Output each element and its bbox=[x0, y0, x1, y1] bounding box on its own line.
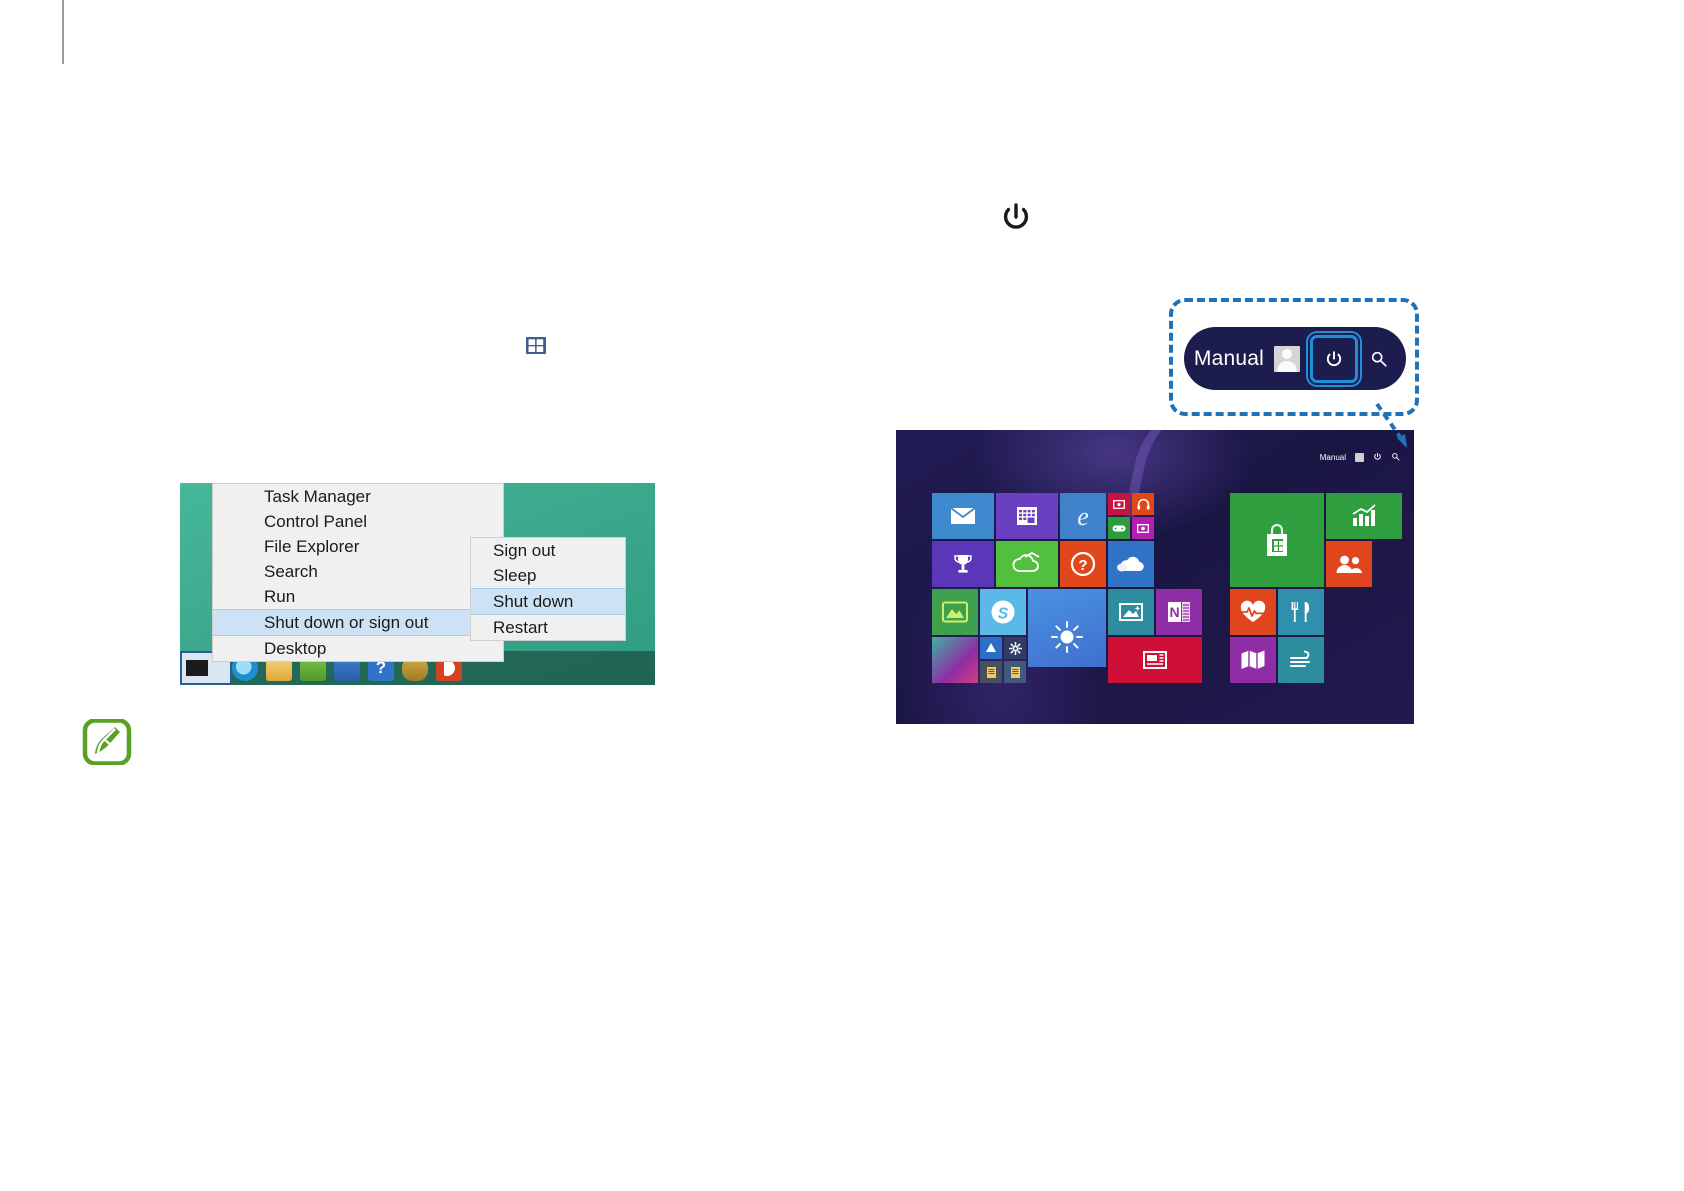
map-icon bbox=[1240, 649, 1266, 671]
people-icon bbox=[1335, 554, 1363, 574]
context-submenu: Sign out Sleep Shut down Restart bbox=[470, 537, 626, 641]
menu-item-label: File Explorer bbox=[264, 537, 359, 556]
xbox-games-tile[interactable] bbox=[1108, 517, 1130, 539]
svg-text:S: S bbox=[998, 606, 1009, 623]
cloud-house-icon bbox=[1012, 552, 1042, 576]
callout-bubble: Manual bbox=[1184, 327, 1406, 390]
help-tile[interactable]: ? bbox=[1060, 541, 1106, 587]
sports-tile[interactable] bbox=[932, 541, 994, 587]
headphones-icon bbox=[1137, 498, 1150, 510]
list-tile[interactable] bbox=[1278, 637, 1324, 683]
skype-icon: S bbox=[990, 599, 1016, 625]
image-icon bbox=[1118, 601, 1144, 623]
menu-item-control-panel[interactable]: Control Panel bbox=[213, 509, 503, 534]
envelope-icon bbox=[950, 507, 976, 525]
menu-item-label: Task Manager bbox=[264, 487, 371, 506]
submenu-item-shut-down[interactable]: Shut down bbox=[471, 588, 625, 615]
account-name: Manual bbox=[1320, 453, 1346, 462]
maps-tile[interactable] bbox=[1230, 637, 1276, 683]
menu-item-search[interactable]: Search bbox=[213, 559, 503, 584]
note-pencil-icon bbox=[79, 718, 137, 766]
windows-logo-icon bbox=[522, 332, 550, 360]
health-tile[interactable] bbox=[1230, 589, 1276, 635]
file1-tile[interactable] bbox=[980, 661, 1002, 683]
video-tile[interactable] bbox=[1132, 517, 1154, 539]
camera-tile[interactable] bbox=[1108, 493, 1130, 515]
calendar-tile[interactable] bbox=[996, 493, 1058, 539]
question-icon: ? bbox=[1070, 551, 1096, 577]
trophy-icon bbox=[951, 552, 975, 576]
reader-tile[interactable] bbox=[980, 637, 1002, 659]
menu-item-label: Restart bbox=[493, 618, 548, 637]
heart-pulse-icon bbox=[1239, 600, 1267, 624]
menu-item-label: Search bbox=[264, 562, 318, 581]
onenote-icon: N bbox=[1166, 599, 1192, 625]
file2-tile[interactable] bbox=[1004, 661, 1026, 683]
internet-explorer-tile[interactable]: e bbox=[1060, 493, 1106, 539]
start-screen-account-bar: Manual bbox=[1320, 452, 1400, 463]
weather-large-tile[interactable] bbox=[1028, 589, 1106, 667]
reader-icon bbox=[985, 642, 997, 654]
callout-pointer bbox=[1375, 402, 1409, 450]
power-icon[interactable] bbox=[1373, 452, 1382, 463]
finance-tile[interactable] bbox=[1326, 493, 1402, 539]
settings-tile[interactable] bbox=[1004, 637, 1026, 659]
user-avatar-icon[interactable] bbox=[1274, 346, 1300, 372]
menu-item-label: Desktop bbox=[264, 639, 326, 658]
camera-roll-icon bbox=[1137, 524, 1149, 533]
menu-item-shut-down-or-sign-out[interactable]: Shut down or sign out ▶ bbox=[213, 609, 503, 636]
onenote-tile[interactable]: N bbox=[1156, 589, 1202, 635]
menu-item-task-manager[interactable]: Task Manager bbox=[213, 484, 503, 509]
cloud-icon bbox=[1116, 555, 1146, 573]
submenu-item-sign-out[interactable]: Sign out bbox=[471, 538, 625, 563]
fork-knife-icon bbox=[1289, 600, 1313, 624]
power-icon[interactable] bbox=[1310, 335, 1358, 383]
photos-tile[interactable] bbox=[932, 589, 978, 635]
menu-item-file-explorer[interactable]: File Explorer bbox=[213, 534, 503, 559]
menu-item-desktop[interactable]: Desktop bbox=[213, 636, 503, 661]
submenu-item-restart[interactable]: Restart bbox=[471, 615, 625, 640]
desktop-tile[interactable] bbox=[932, 637, 978, 683]
power-icon bbox=[996, 198, 1036, 238]
search-icon[interactable] bbox=[1391, 452, 1400, 463]
mail-tile[interactable] bbox=[932, 493, 994, 539]
people-tile[interactable] bbox=[1326, 541, 1372, 587]
document-icon bbox=[1010, 666, 1021, 679]
menu-item-run[interactable]: Run bbox=[213, 584, 503, 609]
gear-icon bbox=[1009, 642, 1022, 655]
menu-item-label: Shut down bbox=[493, 592, 573, 611]
chart-up-icon bbox=[1350, 504, 1378, 528]
onedrive-tile[interactable] bbox=[1108, 541, 1154, 587]
list-icon bbox=[1288, 649, 1314, 671]
svg-text:?: ? bbox=[1078, 557, 1087, 574]
picture-icon bbox=[942, 601, 968, 623]
photo-app-tile[interactable] bbox=[1108, 589, 1154, 635]
skype-tile[interactable]: S bbox=[980, 589, 1026, 635]
store-bag-icon bbox=[1258, 521, 1296, 559]
start-screen-screenshot: Manual e bbox=[896, 430, 1414, 724]
food-tile[interactable] bbox=[1278, 589, 1324, 635]
calendar-icon bbox=[1016, 506, 1038, 526]
callout-account-name: Manual bbox=[1194, 347, 1264, 371]
gamepad-icon bbox=[1112, 524, 1126, 533]
camera-small-icon bbox=[1113, 500, 1125, 509]
svg-text:e: e bbox=[1077, 502, 1089, 530]
menu-item-label: Control Panel bbox=[264, 512, 367, 531]
ie-icon: e bbox=[1068, 502, 1098, 530]
menu-item-label: Sign out bbox=[493, 541, 555, 560]
document-icon bbox=[986, 666, 997, 679]
svg-text:N: N bbox=[1169, 604, 1179, 620]
menu-item-label: Sleep bbox=[493, 566, 536, 585]
weather-tile[interactable] bbox=[996, 541, 1058, 587]
menu-item-label: Run bbox=[264, 587, 295, 606]
menu-item-label: Shut down or sign out bbox=[264, 613, 428, 632]
sun-icon bbox=[1050, 620, 1084, 654]
news-icon bbox=[1142, 649, 1168, 671]
submenu-item-sleep[interactable]: Sleep bbox=[471, 563, 625, 588]
desktop-screenshot: ? Task Manager Control Panel File Explor… bbox=[180, 483, 655, 685]
search-icon[interactable] bbox=[1368, 348, 1390, 370]
context-menu: Task Manager Control Panel File Explorer… bbox=[212, 483, 504, 662]
manual-page: ? Task Manager Control Panel File Explor… bbox=[0, 0, 1684, 1191]
music-tile[interactable] bbox=[1132, 493, 1154, 515]
store-tile[interactable] bbox=[1230, 493, 1324, 587]
user-avatar-icon[interactable] bbox=[1355, 453, 1364, 462]
page-margin-rule bbox=[62, 0, 64, 64]
news-tile[interactable] bbox=[1108, 637, 1202, 683]
